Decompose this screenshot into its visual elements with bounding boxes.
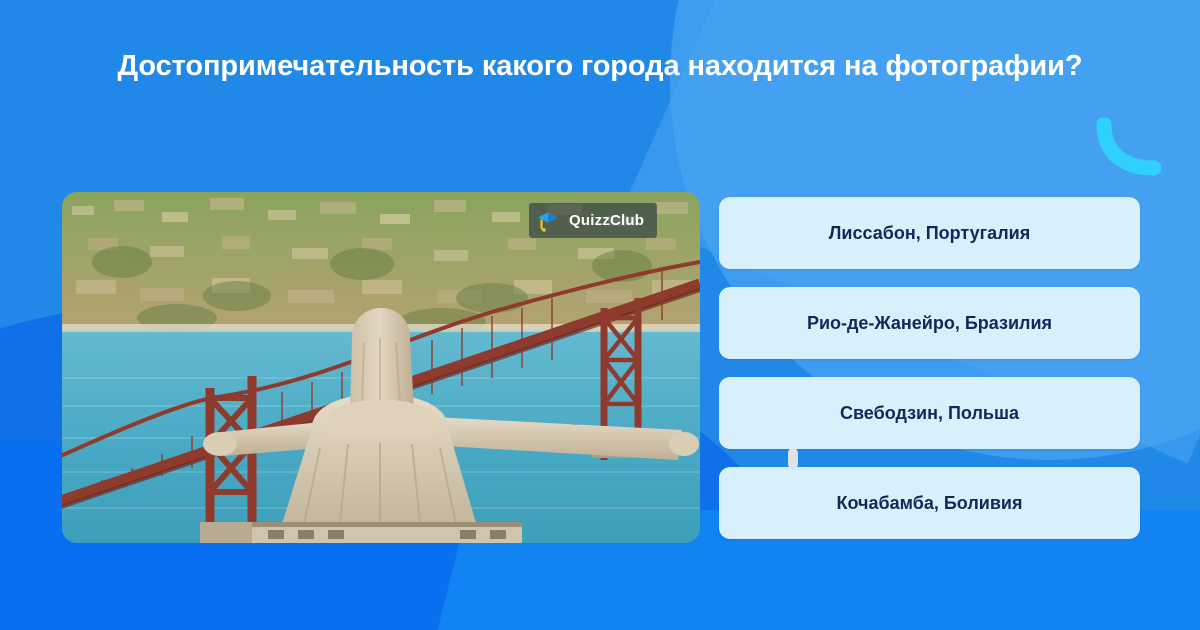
answer-option-1-label: Лиссабон, Португалия: [829, 223, 1030, 244]
answer-option-4[interactable]: Кочабамба, Боливия: [719, 467, 1140, 539]
question-card: Достопримечательность какого города нахо…: [0, 0, 1200, 630]
answer-option-2[interactable]: Рио-де-Жанейро, Бразилия: [719, 287, 1140, 359]
watermark-brand: QuizzClub: [569, 212, 644, 229]
answer-option-2-label: Рио-де-Жанейро, Бразилия: [807, 313, 1052, 334]
smile-arc-icon: [1096, 118, 1162, 176]
answer-option-3[interactable]: Свебодзин, Польша: [719, 377, 1140, 449]
answer-options: Лиссабон, Португалия Рио-де-Жанейро, Бра…: [719, 197, 1140, 539]
page-title: Достопримечательность какого города нахо…: [60, 46, 1140, 87]
answer-option-3-label: Свебодзин, Польша: [840, 403, 1019, 424]
decorative-pill: [788, 448, 798, 469]
question-image: QuizzClub: [62, 192, 700, 543]
answer-option-1[interactable]: Лиссабон, Португалия: [719, 197, 1140, 269]
watermark: QuizzClub: [529, 203, 657, 238]
graduation-cap-icon: [535, 208, 560, 233]
answer-option-4-label: Кочабамба, Боливия: [837, 493, 1023, 514]
